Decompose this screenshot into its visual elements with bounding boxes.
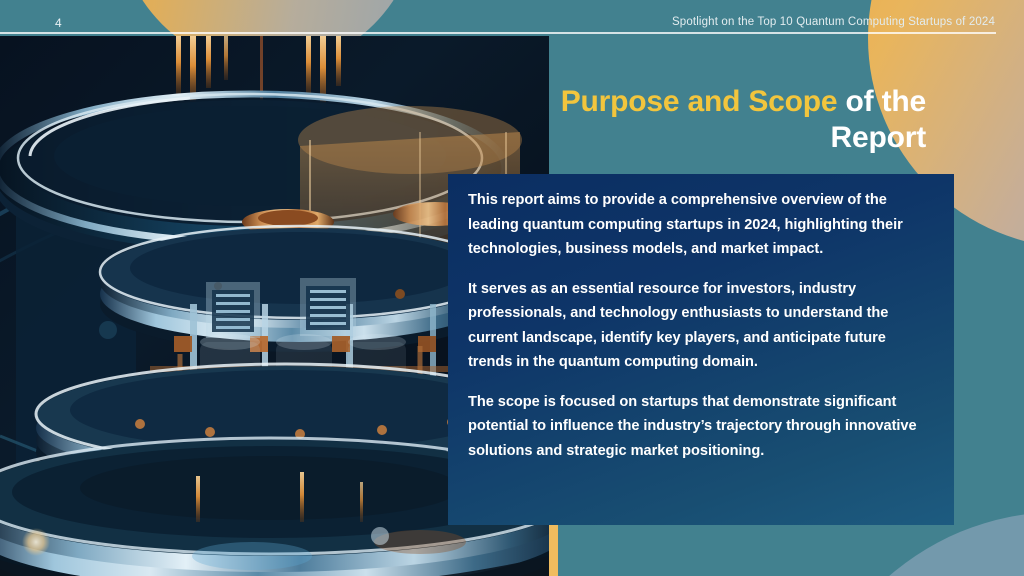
page-title-rest: of the Report — [831, 85, 926, 154]
slide-header: 4 Spotlight on the Top 10 Quantum Comput… — [0, 0, 1024, 36]
body-text-panel: This report aims to provide a comprehens… — [448, 174, 954, 525]
decorative-gold-strip — [549, 525, 558, 576]
body-paragraph-1: This report aims to provide a comprehens… — [468, 188, 918, 262]
body-paragraph-3: The scope is focused on startups that de… — [468, 390, 918, 464]
page-title: Purpose and Scope of the Report — [560, 84, 926, 156]
header-deck-title: Spotlight on the Top 10 Quantum Computin… — [672, 16, 995, 29]
slide-canvas: 4 Spotlight on the Top 10 Quantum Comput… — [0, 0, 1024, 576]
page-title-accent: Purpose and Scope — [561, 85, 838, 118]
header-divider — [0, 32, 996, 34]
body-paragraph-2: It serves as an essential resource for i… — [468, 277, 918, 375]
page-number: 4 — [55, 17, 62, 29]
